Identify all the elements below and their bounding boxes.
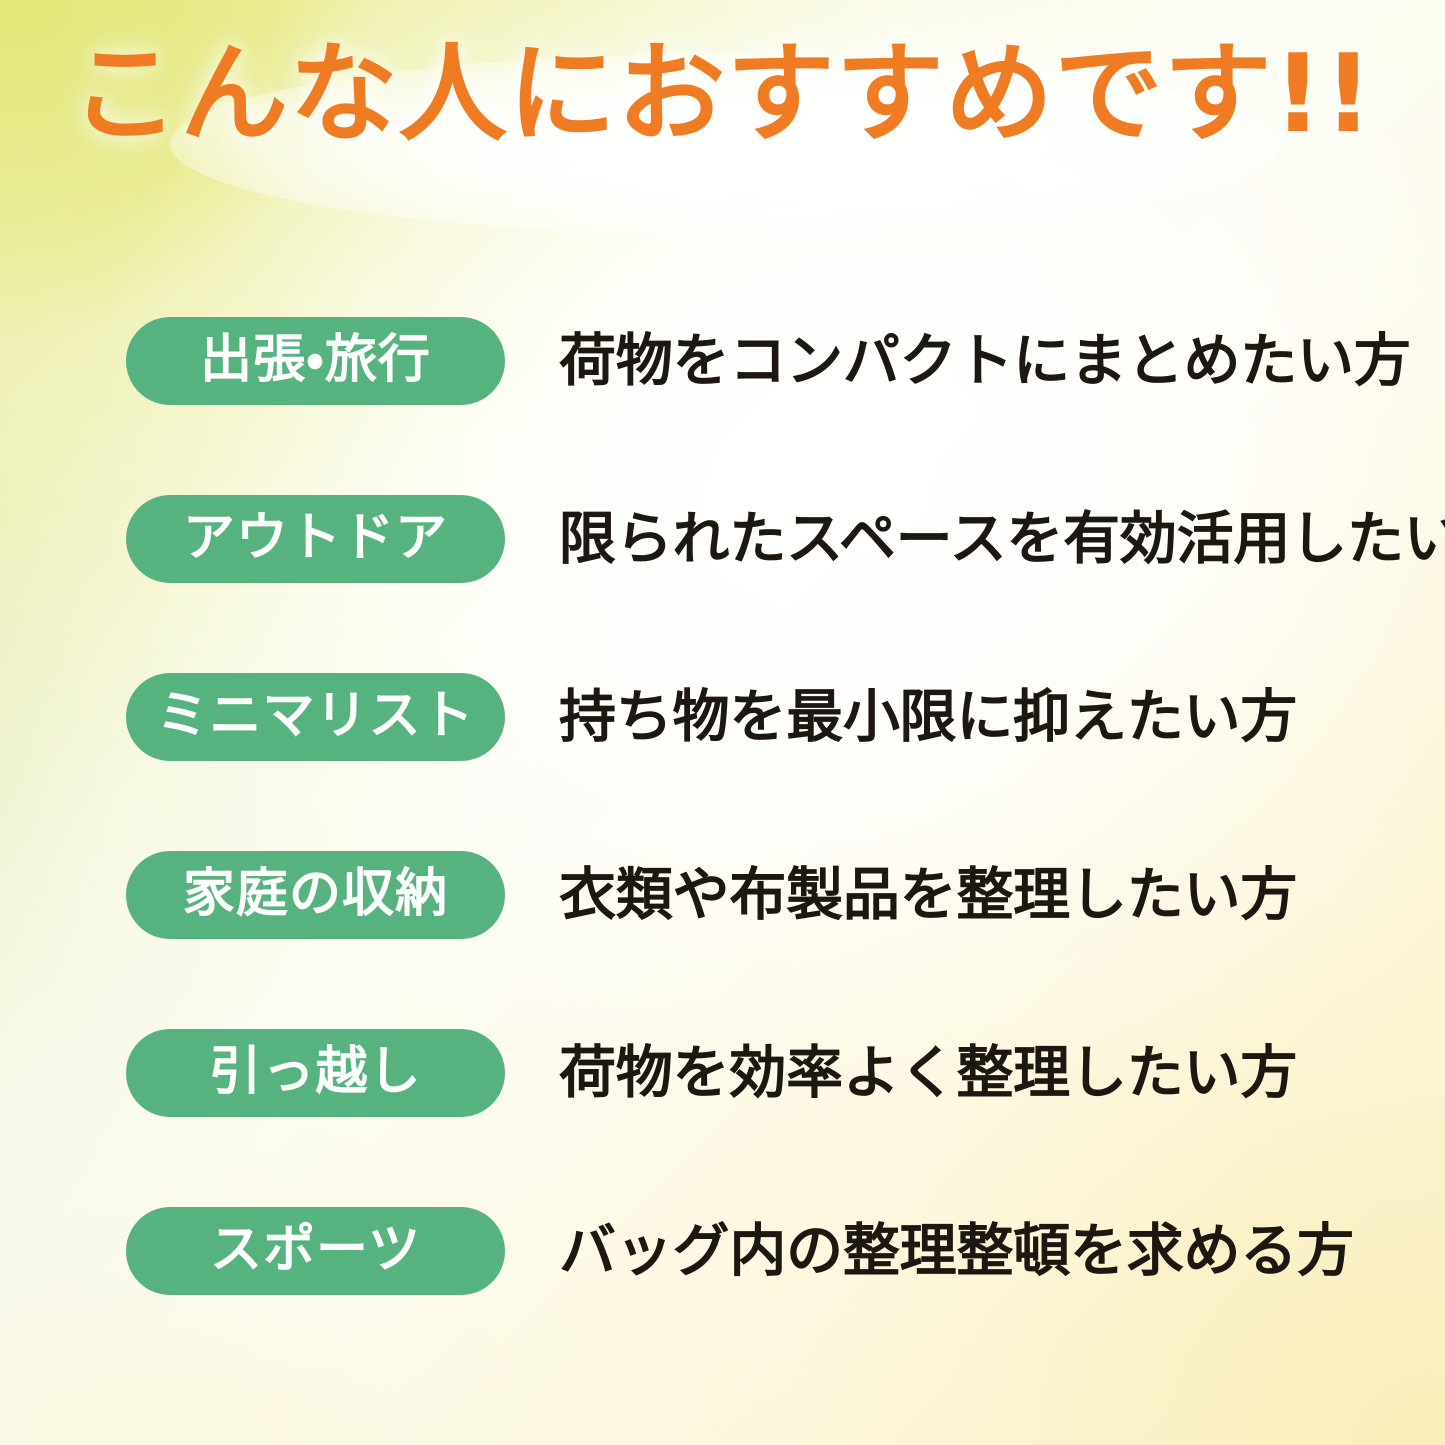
- category-badge-minimalist: ミニマリスト: [126, 673, 505, 761]
- category-badge-label: アウトドア: [183, 512, 448, 564]
- category-badge-label: 家庭の収納: [183, 868, 448, 920]
- category-badge-outdoor: アウトドア: [126, 495, 505, 583]
- page-title: こんな人におすすめです!!: [71, 41, 1374, 149]
- category-description: 限られたスペースを有効活用したい方: [559, 495, 1445, 583]
- list-item: ミニマリスト 持ち物を最小限に抑えたい方: [0, 673, 1445, 761]
- promo-poster: こんな人におすすめです!! 出張・旅行 荷物をコンパクトにまとめたい方 アウトド…: [0, 0, 1445, 1445]
- category-badge-label: ミニマリスト: [156, 690, 474, 742]
- list-item: アウトドア 限られたスペースを有効活用したい方: [0, 495, 1445, 583]
- category-badge-label: 引っ越し: [209, 1046, 421, 1098]
- category-description: バッグ内の整理整頓を求める方: [559, 1207, 1354, 1295]
- list-item: 引っ越し 荷物を効率よく整理したい方: [0, 1029, 1445, 1117]
- poster-header: こんな人におすすめです!!: [0, 0, 1445, 248]
- list-item: スポーツ バッグ内の整理整頓を求める方: [0, 1207, 1445, 1295]
- category-description: 持ち物を最小限に抑えたい方: [559, 673, 1297, 761]
- category-badge-business-travel: 出張・旅行: [126, 317, 505, 405]
- category-badge-moving: 引っ越し: [126, 1029, 505, 1117]
- category-badge-label: スポーツ: [210, 1224, 421, 1276]
- list-item: 家庭の収納 衣類や布製品を整理したい方: [0, 851, 1445, 939]
- category-description: 荷物を効率よく整理したい方: [559, 1029, 1297, 1117]
- category-badge-home-storage: 家庭の収納: [126, 851, 505, 939]
- poster-content: こんな人におすすめです!! 出張・旅行 荷物をコンパクトにまとめたい方 アウトド…: [0, 0, 1445, 1445]
- category-description: 荷物をコンパクトにまとめたい方: [559, 317, 1411, 405]
- category-badge-sports: スポーツ: [126, 1207, 505, 1295]
- category-description: 衣類や布製品を整理したい方: [559, 851, 1297, 939]
- category-badge-label: 出張・旅行: [200, 334, 431, 386]
- recommendation-list: 出張・旅行 荷物をコンパクトにまとめたい方 アウトドア 限られたスペースを有効活…: [0, 317, 1445, 1295]
- list-item: 出張・旅行 荷物をコンパクトにまとめたい方: [0, 317, 1445, 405]
